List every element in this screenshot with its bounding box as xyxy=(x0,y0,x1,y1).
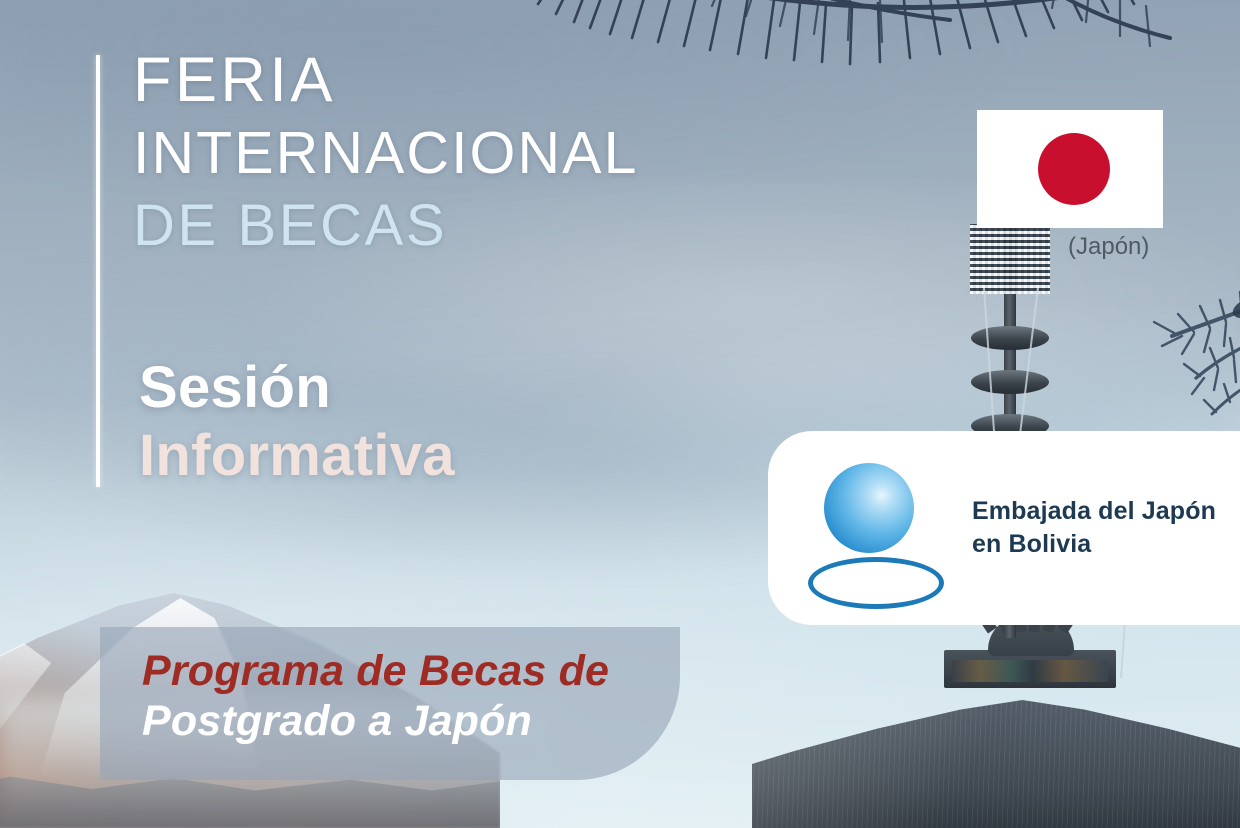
subtitle-line-1: Sesión xyxy=(139,355,779,421)
embassy-card: Embajada del Japón en Bolivia xyxy=(768,431,1240,625)
vertical-rule xyxy=(96,55,100,487)
headline-line-1: FERIA xyxy=(133,44,853,116)
program-banner-line-1: Programa de Becas de xyxy=(142,645,609,697)
embassy-name-line-2: en Bolivia xyxy=(972,528,1216,561)
japan-flag-caption: (Japón) xyxy=(1068,232,1149,262)
spire-ring xyxy=(971,370,1049,394)
pagoda-roof-group xyxy=(752,613,1240,828)
headline-line-2: INTERNACIONAL xyxy=(133,116,853,190)
embassy-logo-icon xyxy=(806,457,958,599)
subtitle-line-2: Informativa xyxy=(139,421,779,491)
spire-lattice-plate xyxy=(970,224,1050,294)
embassy-sphere-icon xyxy=(824,463,914,553)
embassy-name: Embajada del Japón en Bolivia xyxy=(972,495,1216,561)
spire-ring xyxy=(971,326,1049,350)
embassy-name-line-1: Embajada del Japón xyxy=(972,495,1216,528)
page-title: FERIA INTERNACIONAL DE BECAS xyxy=(133,44,853,262)
subtitle: Sesión Informativa xyxy=(139,355,779,491)
pagoda-roof-sheen xyxy=(752,668,1240,828)
headline-line-3: DE BECAS xyxy=(133,190,853,262)
program-banner-line-2: Postgrado a Japón xyxy=(142,695,532,747)
pagoda-cornice-panel xyxy=(952,660,1108,682)
poster-canvas: FERIA INTERNACIONAL DE BECAS Sesión Info… xyxy=(0,0,1240,828)
embassy-ring-icon xyxy=(808,557,944,609)
japan-flag xyxy=(977,110,1163,228)
japan-flag-disc xyxy=(1038,133,1110,205)
program-banner: Programa de Becas de Postgrado a Japón xyxy=(100,627,680,780)
